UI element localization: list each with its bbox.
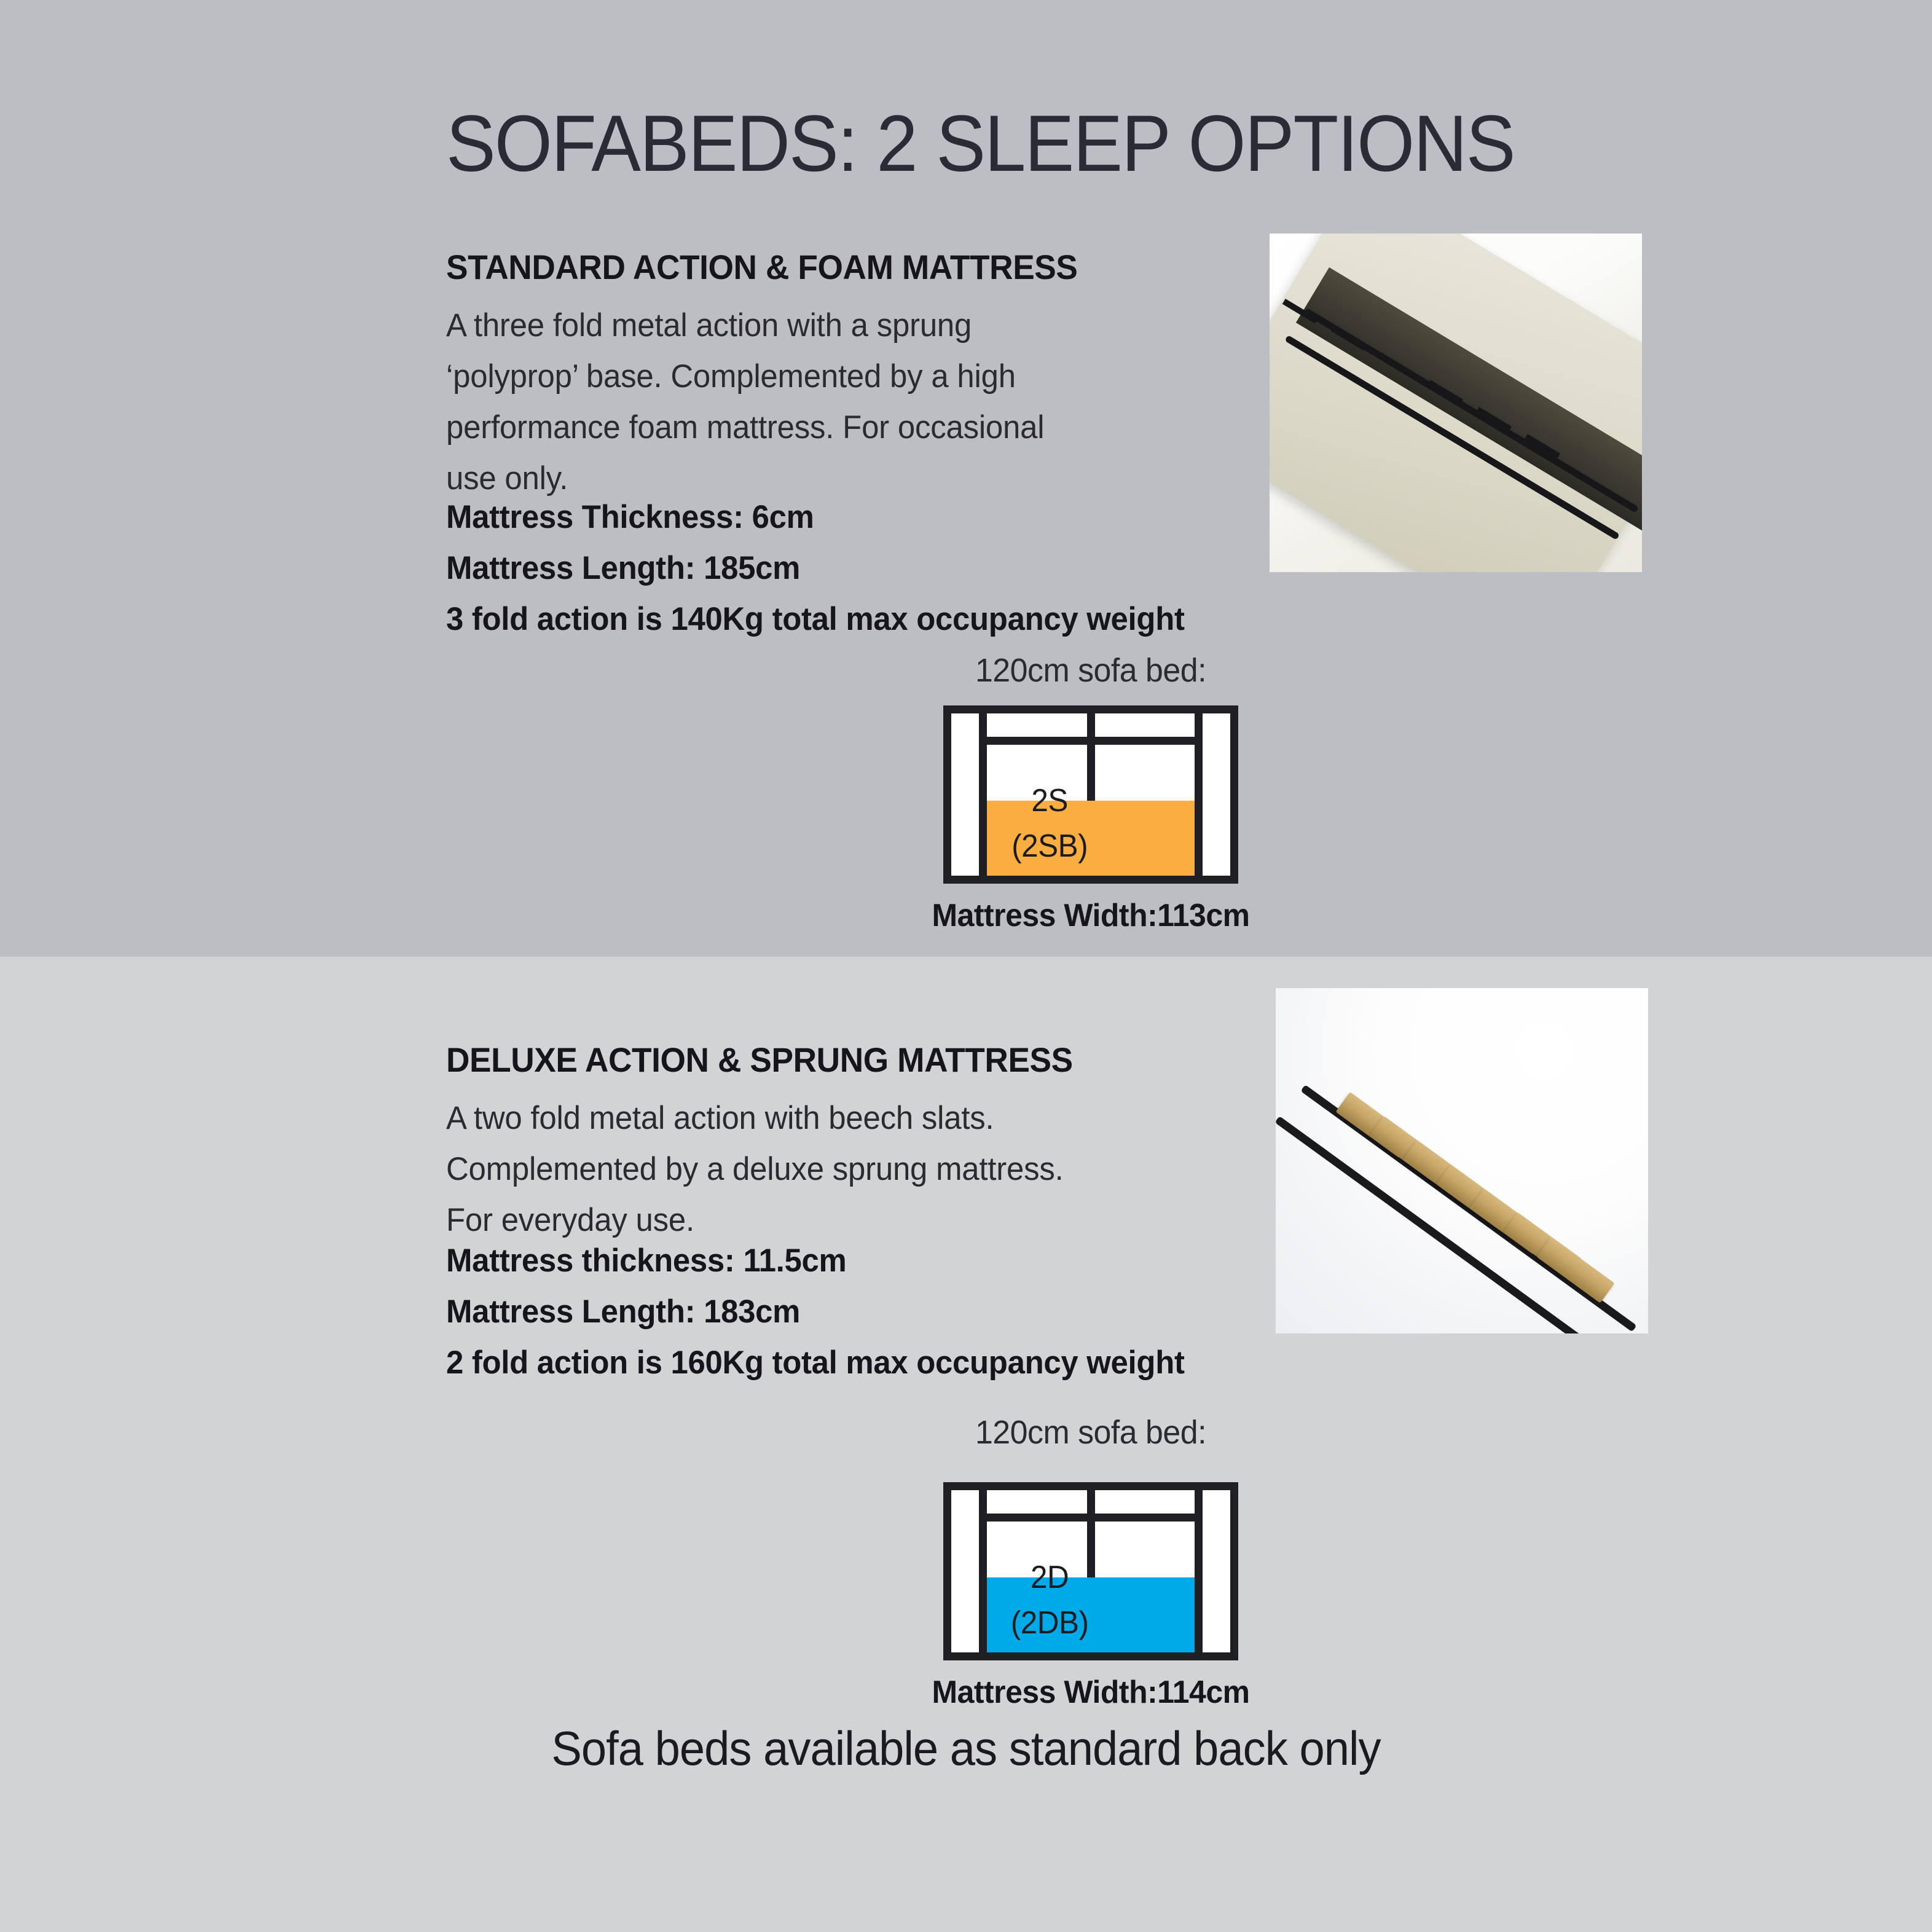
spec-mattress-length-standard: Mattress Length: 185cm bbox=[446, 543, 800, 594]
diagram-caption-size-deluxe: 120cm sofa bed: bbox=[887, 1413, 1294, 1451]
description-line: A three fold metal action with a sprung bbox=[446, 300, 1044, 351]
page-title: SOFABEDS: 2 SLEEP OPTIONS bbox=[446, 103, 1703, 183]
diagram-mattress-width-standard: Mattress Width:113cm bbox=[887, 897, 1294, 934]
spec-mattress-thickness-deluxe: Mattress thickness: 11.5cm bbox=[446, 1235, 846, 1286]
sofa-code-bracket: (2SB) bbox=[990, 823, 1109, 869]
sofa-arm-left bbox=[979, 1490, 987, 1652]
section-heading-standard: STANDARD ACTION & FOAM MATTRESS bbox=[446, 247, 1078, 287]
section-description-standard: A three fold metal action with a sprung … bbox=[446, 300, 1044, 504]
sofa-outline-deluxe: 2D (2DB) bbox=[943, 1482, 1238, 1660]
description-line: Complemented by a deluxe sprung mattress… bbox=[446, 1144, 1064, 1195]
spec-mattress-thickness-standard: Mattress Thickness: 6cm bbox=[446, 492, 814, 543]
photo-deluxe-action bbox=[1276, 988, 1648, 1333]
sofa-diagram-standard: 120cm sofa bed: 2S (2SB) Mattress Width:… bbox=[879, 651, 1303, 934]
section-heading-deluxe: DELUXE ACTION & SPRUNG MATTRESS bbox=[446, 1040, 1073, 1080]
sofa-code-label-deluxe: 2D (2DB) bbox=[990, 1555, 1109, 1646]
spec-max-occupancy-deluxe: 2 fold action is 160Kg total max occupan… bbox=[446, 1337, 1185, 1388]
section-description-deluxe: A two fold metal action with beech slats… bbox=[446, 1093, 1064, 1246]
sofa-outline-standard: 2S (2SB) bbox=[943, 705, 1238, 884]
description-line: A two fold metal action with beech slats… bbox=[446, 1093, 1064, 1144]
photo-deluxe-action-image bbox=[1276, 988, 1648, 1333]
photo-standard-action-image bbox=[1270, 234, 1642, 572]
sofa-code-bracket: (2DB) bbox=[990, 1600, 1109, 1646]
sofa-code: 2D bbox=[1031, 1560, 1069, 1595]
sofa-diagram-deluxe: 120cm sofa bed: 2D (2DB) Mattress Width:… bbox=[879, 1413, 1303, 1696]
spec-max-occupancy-standard: 3 fold action is 140Kg total max occupan… bbox=[446, 594, 1185, 645]
footer-note: Sofa beds available as standard back onl… bbox=[49, 1721, 1884, 1777]
sofa-arm-right bbox=[1195, 1490, 1203, 1652]
description-line: performance foam mattress. For occasiona… bbox=[446, 402, 1044, 453]
sofa-arm-left bbox=[979, 713, 987, 876]
photo-standard-action bbox=[1270, 234, 1642, 572]
sofa-code-label-standard: 2S (2SB) bbox=[990, 778, 1109, 869]
diagram-caption-size-standard: 120cm sofa bed: bbox=[887, 651, 1294, 689]
diagram-mattress-width-deluxe: Mattress Width:114cm bbox=[887, 1674, 1294, 1711]
sofa-arm-right bbox=[1195, 713, 1203, 876]
spec-mattress-length-deluxe: Mattress Length: 183cm bbox=[446, 1286, 800, 1337]
description-line: ‘polyprop’ base. Complemented by a high bbox=[446, 351, 1044, 402]
sofa-code: 2S bbox=[1031, 783, 1067, 819]
